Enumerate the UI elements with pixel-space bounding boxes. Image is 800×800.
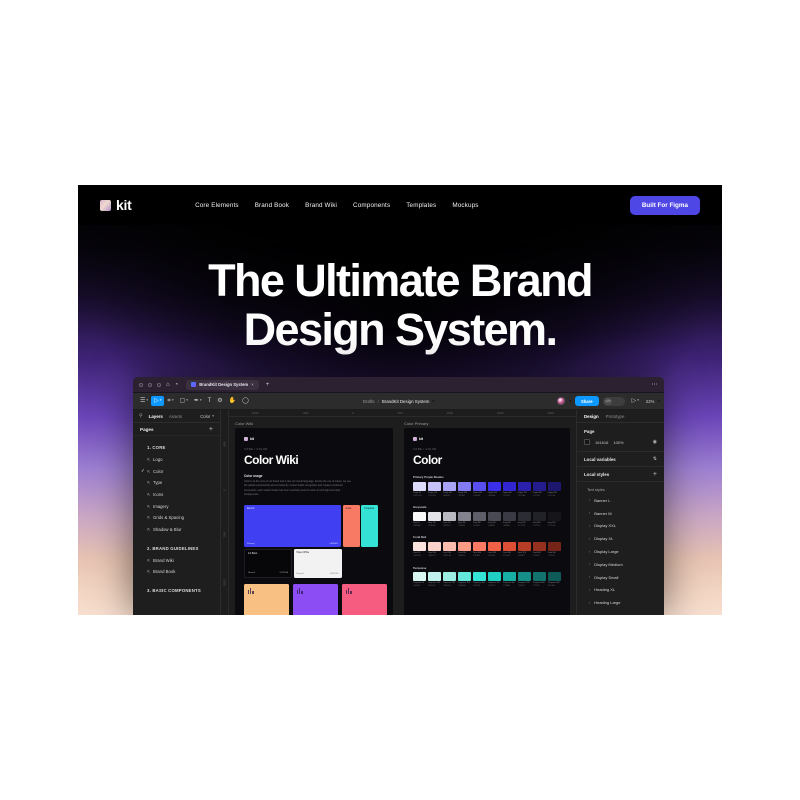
swatch-hex: #212128	[533, 525, 546, 528]
swatch[interactable]: Turquoise 500#1FD0C3	[488, 572, 501, 588]
swatch-hex: #F2F2F2	[330, 573, 339, 575]
color-swatch-grid: Electric #4040F2 Primary Coral Turquoise	[244, 505, 393, 615]
swatch[interactable]: Purple 800#241C8C	[533, 482, 546, 498]
list-item[interactable]: ⇱Brand Book	[133, 566, 220, 578]
page-section-title: Page	[584, 429, 657, 434]
swatch-hex: #BFF2EC	[428, 585, 441, 588]
page-background-swatch[interactable]	[584, 439, 590, 445]
breadcrumb-drafts[interactable]: Drafts	[363, 399, 375, 404]
swatch-chip[interactable]	[503, 482, 516, 491]
swatch-hex: #F06248	[488, 555, 501, 558]
swatch-chip[interactable]	[413, 512, 426, 521]
page-background-hex[interactable]: 161616	[595, 440, 608, 445]
frame-label[interactable]: Color Primary	[404, 421, 570, 426]
nav-link-components[interactable]: Components	[353, 202, 390, 209]
cursor-icon: ▷	[154, 398, 159, 404]
frame-color-wiki[interactable]: Color Wiki kit CORE / COLOR Color Wiki C…	[235, 421, 393, 615]
swatch[interactable]: Turquoise 900#0E5A56	[548, 572, 561, 588]
swatch-hex: #DC4E35	[503, 555, 516, 558]
text-style-item[interactable]: ›Display Large	[577, 545, 664, 558]
swatch-hex: #5E5E69	[473, 525, 486, 528]
text-icon: T	[208, 398, 212, 404]
ruler-tick: 1000	[446, 411, 453, 415]
pen-tool[interactable]: ✒ ▾	[191, 396, 205, 406]
swatch[interactable]: Turquoise 700#158F87	[518, 572, 531, 588]
chevron-right-icon[interactable]: ›	[589, 498, 590, 502]
swatch[interactable]: Grey 300#83838F	[458, 512, 471, 528]
ruler-tick: -500	[223, 441, 227, 447]
swatch-coral[interactable]: Coral	[343, 505, 360, 547]
hero-section: kit Core Elements Brand Book Brand Wiki …	[78, 185, 722, 615]
swatch[interactable]: Purple 400#584FEE	[473, 482, 486, 498]
brand-logo[interactable]: kit	[100, 197, 131, 213]
text-style-name: Display Large	[594, 549, 618, 554]
hand-icon: ✋	[229, 398, 236, 404]
swatch[interactable]: Grey 600#3A3A44	[503, 512, 516, 528]
swatch[interactable]: Grey 200#B9B9C2	[443, 512, 456, 528]
swatch[interactable]: Turquoise 400#35E3D6	[473, 572, 486, 588]
swatch-chip[interactable]	[518, 512, 531, 521]
swatch-rose[interactable]	[342, 584, 387, 616]
home-icon[interactable]: ⌂	[166, 382, 170, 388]
page-selector-label: Color	[200, 414, 210, 419]
swatch[interactable]: Purple 600#3226D0	[503, 482, 516, 498]
list-item[interactable]: ⇱Icons	[133, 489, 220, 501]
text-style-name: Heading XL	[594, 587, 615, 592]
swatch-hex: #3B30EA	[488, 495, 501, 498]
swatch-chip[interactable]	[428, 542, 441, 551]
text-styles-label: Text styles	[577, 482, 664, 494]
tab-prototype[interactable]: Prototype	[606, 414, 625, 419]
comment-icon: ◯	[242, 398, 249, 404]
hero-headline: The Ultimate Brand Design System.	[78, 257, 722, 354]
shape-tool[interactable]: ▢ ▾	[177, 396, 191, 406]
brand-name: kit	[116, 197, 131, 213]
window-maximize-dot[interactable]	[157, 383, 161, 387]
swatch-label-1: Neutral	[248, 572, 255, 574]
nav-link-brand-book[interactable]: Brand Book	[255, 202, 289, 209]
text-style-name: Banner M	[594, 511, 611, 516]
swatch-violet[interactable]	[293, 584, 338, 616]
swatch-chip[interactable]	[458, 512, 471, 521]
page-label: Grids & Spacing	[153, 515, 184, 520]
swatch-chip[interactable]	[518, 482, 531, 491]
pages-title: Pages	[140, 427, 154, 432]
swatch-chip[interactable]	[443, 512, 456, 521]
swatch-chip[interactable]	[443, 572, 456, 581]
chevron-right-icon[interactable]: ›	[589, 550, 590, 554]
list-spacer	[133, 536, 220, 543]
ruler-tick: 0	[223, 489, 227, 491]
swatch-row: Coral 50#FBE3DECoral 100#FAD2C9Coral 200…	[413, 542, 561, 558]
chevron-down-icon: ▾	[212, 414, 214, 418]
frame-icon: ⌗	[167, 398, 170, 404]
swatch-hex: #83838F	[458, 525, 471, 528]
chevron-right-icon[interactable]: ›	[589, 524, 590, 528]
swatch-hex: #12726C	[533, 585, 546, 588]
nav-link-brand-wiki[interactable]: Brand Wiki	[305, 202, 337, 209]
frame-content: kit CORE / COLOR Color Wiki Color usage …	[235, 428, 393, 615]
list-spacer	[133, 578, 220, 585]
chevron-right-icon[interactable]: ›	[589, 511, 590, 515]
ruler-tick: 1500	[497, 411, 504, 415]
dev-mode-toggle[interactable]: </>	[603, 397, 625, 406]
close-icon[interactable]: ×	[251, 382, 254, 387]
swatch-hex: #584FEE	[473, 495, 486, 498]
swatch-name: Turquoise	[364, 508, 374, 510]
swatch-chip[interactable]	[428, 482, 441, 491]
browser-menu-icon[interactable]: ⋯	[652, 381, 659, 388]
frame-color-primary[interactable]: Color Primary kit CORE / COLOR Color Pri…	[404, 421, 570, 615]
recents-icon[interactable]: ◔	[175, 382, 179, 388]
components-tool[interactable]: ⚙	[214, 396, 225, 406]
play-icon: ▷	[632, 398, 637, 404]
swatch-hex: #D8F6F2	[413, 585, 426, 588]
ruler-tick: 500	[223, 532, 227, 537]
frame-label[interactable]: Color Wiki	[235, 421, 393, 426]
ruler-tick: 500	[398, 411, 403, 415]
swatch-hex: #B9B9C2	[443, 525, 456, 528]
swatch-chip[interactable]	[503, 542, 516, 551]
code-icon: </>	[604, 398, 612, 405]
swatch-chip[interactable]	[458, 542, 471, 551]
add-style-icon[interactable]: +	[653, 471, 657, 478]
tab-design[interactable]: Design	[584, 414, 599, 419]
frame-title: Color	[413, 453, 561, 467]
frame-eyebrow: CORE / COLOR	[244, 448, 384, 451]
chevron-down-icon[interactable]: ▾	[658, 399, 660, 403]
swatch[interactable]: Coral 100#FAD2C9	[428, 542, 441, 558]
swatch[interactable]: Coral 700#B83D27	[518, 542, 531, 558]
swatch-hex: #9BEDE4	[443, 585, 456, 588]
swatch-hex: #FAD2C9	[428, 555, 441, 558]
frame-subtitle: Color usage	[244, 474, 384, 478]
swatch-chip[interactable]	[488, 482, 501, 491]
swatch[interactable]: Purple 100#C6C2F8	[428, 482, 441, 498]
swatch-hex: #2C2C34	[518, 525, 531, 528]
figma-app-window: ⌂ ◔ BrandKit Design System × + ⋯ ☰ ▾ ▷ ▾	[133, 377, 664, 615]
text-style-item[interactable]: ›Display XXL	[577, 520, 664, 533]
nav-link-templates[interactable]: Templates	[406, 202, 436, 209]
swatch[interactable]: Coral 50#FBE3DE	[413, 542, 426, 558]
design-panel-tabs: Design Prototype	[577, 410, 664, 423]
swatch-chip[interactable]	[548, 542, 561, 551]
page-label: Icons	[153, 492, 163, 497]
breadcrumb-separator: /	[378, 399, 379, 404]
local-variables-row[interactable]: Local variables ⇅	[577, 452, 664, 467]
text-style-name: Display XL	[594, 536, 613, 541]
swatch[interactable]: Coral 200#FBBCAD	[443, 542, 456, 558]
window-close-dot[interactable]	[139, 383, 143, 387]
local-styles-row[interactable]: Local styles +	[577, 467, 664, 482]
swatch[interactable]: Turquoise 200#9BEDE4	[443, 572, 456, 588]
swatch-hex: #B83D27	[518, 555, 531, 558]
swatch[interactable]: Purple 500#3B30EA	[488, 482, 501, 498]
page-label: Type	[153, 480, 162, 485]
swatch-hex: #A9A3F5	[443, 495, 456, 498]
chevron-down-icon[interactable]: ▾	[569, 399, 571, 403]
swatch-hex: #837BF2	[458, 495, 471, 498]
swatch-group-title: Primary Purple Shades	[413, 475, 561, 479]
site-header: kit Core Elements Brand Book Brand Wiki …	[78, 185, 722, 225]
list-item[interactable]: ⇱Logo	[133, 454, 220, 466]
swatch-chip[interactable]	[428, 512, 441, 521]
nav-link-core-elements[interactable]: Core Elements	[195, 202, 239, 209]
swatch-row: Ink Black #07070A Neutral Paper White #F…	[244, 549, 393, 578]
swatch-row: Electric #4040F2 Primary Coral Turquoise	[244, 505, 393, 547]
swatch-electric-blue[interactable]: Electric #4040F2 Primary	[244, 505, 341, 547]
chevron-right-icon[interactable]: ›	[589, 537, 590, 541]
swatch-bars-icon	[248, 588, 254, 594]
swatch[interactable]: Purple 200#A9A3F5	[443, 482, 456, 498]
list-item[interactable]: 2. BRAND GUIDELINES	[133, 543, 220, 555]
chevron-right-icon[interactable]: ›	[589, 588, 590, 592]
swatch-chip[interactable]	[443, 482, 456, 491]
move-tool[interactable]: ▷ ▾	[151, 396, 164, 406]
swatch-chip[interactable]	[548, 482, 561, 491]
swatch[interactable]: Grey 900#15151A	[548, 512, 561, 528]
ruler-tick: 0	[352, 411, 354, 415]
add-page-icon[interactable]: +	[209, 426, 213, 433]
text-style-item[interactable]: ›Heading Large	[577, 596, 664, 609]
swatch[interactable]: Grey 50#FAFAFA	[413, 512, 426, 528]
swatch-chip[interactable]	[413, 542, 426, 551]
frame-logo: kit	[244, 437, 384, 441]
page-label: 2. BRAND GUIDELINES	[147, 546, 199, 551]
rectangle-icon: ▢	[180, 398, 186, 404]
swatch-chip[interactable]	[473, 542, 486, 551]
main-menu-tool[interactable]: ☰ ▾	[137, 396, 151, 406]
pen-icon: ✒	[194, 398, 199, 404]
swatch[interactable]: Grey 800#212128	[533, 512, 546, 528]
chevron-down-icon: ▾	[200, 399, 202, 402]
text-style-item[interactable]: ›Display Small	[577, 571, 664, 584]
browser-tab[interactable]: BrandKit Design System ×	[186, 380, 259, 390]
swatch[interactable]: Coral 900#752518	[548, 542, 561, 558]
list-item[interactable]: ⇱Type	[133, 477, 220, 489]
swatch-chip[interactable]	[533, 482, 546, 491]
swatch-hex: #E4E4E8	[428, 525, 441, 528]
swatch-chip[interactable]	[488, 572, 501, 581]
swatch-chip[interactable]	[413, 482, 426, 491]
built-for-figma-button[interactable]: Built For Figma	[630, 196, 700, 215]
swatch-hex: #35E3D6	[473, 585, 486, 588]
variables-icon[interactable]: ⇅	[653, 456, 657, 462]
tab-layers[interactable]: Layers	[149, 414, 163, 419]
swatch-turquoise[interactable]: Turquoise	[361, 505, 378, 547]
swatch-hex: #93301F	[533, 555, 546, 558]
swatch[interactable]: Grey 100#E4E4E8	[428, 512, 441, 528]
logo-mark-icon	[413, 437, 417, 441]
swatch[interactable]: Turquoise 800#12726C	[533, 572, 546, 588]
page-label: Shadow & Blur	[153, 527, 181, 532]
swatch[interactable]: Turquoise 600#17AFA4	[503, 572, 516, 588]
search-icon[interactable]: ⚲	[139, 413, 143, 419]
text-style-item[interactable]: ›Banner L	[577, 494, 664, 507]
list-item[interactable]: ⇱Shadow & Blur	[133, 524, 220, 536]
chevron-down-icon: ▾	[146, 399, 148, 402]
swatch-label-1: Neutral	[297, 573, 304, 575]
swatch[interactable]: Turquoise 300#64E8DB	[458, 572, 471, 588]
toolbar-right-group: ▾ Share </> ▷ ▾ 22% ▾	[557, 396, 660, 406]
page-background-opacity[interactable]: 100%	[613, 440, 623, 445]
ruler-tick: -1000	[251, 411, 259, 415]
figma-workspace: ⚲ Layers Assets Color ▾ Pages + 1. CORE	[133, 410, 664, 615]
text-style-name: Banner L	[594, 498, 610, 503]
swatch-name: Ink Black	[248, 553, 257, 555]
swatch[interactable]: Grey 700#2C2C34	[518, 512, 531, 528]
swatch-group: Primary Purple ShadesPurple 50#DEDCFBPur…	[413, 475, 561, 497]
figma-toolbar: ☰ ▾ ▷ ▾ ⌗ ▾ ▢ ▾ ✒ ▾	[133, 393, 664, 410]
swatch-groups: Primary Purple ShadesPurple 50#DEDCFBPur…	[413, 475, 561, 588]
text-tool[interactable]: T	[205, 396, 215, 406]
window-minimize-dot[interactable]	[148, 383, 152, 387]
swatch-chip[interactable]	[458, 572, 471, 581]
page-section: Page 161616 100% ◉	[577, 423, 664, 452]
horizontal-ruler: -1000 -500 0 500 1000 1500 2000	[229, 410, 576, 417]
swatch-group-title: Greyscale	[413, 505, 561, 509]
frame-logo-text: kit	[419, 437, 423, 441]
pages-list: 1. CORE ⇱Logo ✓⇱Color ⇱Type ⇱Icons ⇱Imag…	[133, 436, 220, 596]
frame-logo-text: kit	[250, 437, 254, 441]
list-item[interactable]: 1. CORE	[133, 442, 220, 454]
new-tab-icon[interactable]: +	[266, 382, 270, 388]
avatar[interactable]	[557, 397, 565, 405]
list-item[interactable]: ⇱Grids & Spacing	[133, 512, 220, 524]
list-item[interactable]: ✓⇱Color	[133, 465, 220, 477]
landing-page: kit Core Elements Brand Book Brand Wiki …	[0, 0, 800, 800]
swatch-hex: #3A3A44	[503, 525, 516, 528]
swatch-chip[interactable]	[503, 512, 516, 521]
list-item[interactable]: ⇱Brand Wiki	[133, 554, 220, 566]
swatch[interactable]: Purple 900#1D176E	[548, 482, 561, 498]
swatch-row: Grey 50#FAFAFAGrey 100#E4E4E8Grey 200#B9…	[413, 512, 561, 528]
swatch-hex: #07070A	[279, 572, 288, 574]
swatch-hex: #3226D0	[503, 495, 516, 498]
comment-tool[interactable]: ◯	[239, 396, 252, 406]
page-label: Brand Book	[153, 569, 175, 574]
chevron-down-icon: ▾	[172, 399, 174, 402]
swatch-chip[interactable]	[533, 512, 546, 521]
swatch-hex: #2B21AE	[518, 495, 531, 498]
swatch-hex: #64E8DB	[458, 585, 471, 588]
text-style-item[interactable]: ›Display Medium	[577, 558, 664, 571]
swatch-chip[interactable]	[503, 572, 516, 581]
swatch-hex: #DEDCFB	[413, 495, 426, 498]
text-style-item[interactable]: ›Heading XL	[577, 584, 664, 597]
pages-header: Pages +	[133, 423, 220, 436]
components-icon: ⚙	[217, 398, 222, 404]
browser-tab-title: BrandKit Design System	[199, 382, 248, 387]
present-button[interactable]: ▷ ▾	[629, 396, 642, 406]
swatch[interactable]: Grey 400#5E5E69	[473, 512, 486, 528]
page-label: Color	[153, 469, 163, 474]
swatch[interactable]: Purple 50#DEDCFB	[413, 482, 426, 498]
swatch[interactable]: Coral 800#93301F	[533, 542, 546, 558]
swatch-chip[interactable]	[548, 512, 561, 521]
vertical-ruler: -500 0 500 1000	[221, 410, 229, 615]
chevron-down-icon[interactable]: ▾	[432, 399, 434, 403]
logo-mark-icon	[244, 437, 248, 441]
swatch-chip[interactable]	[518, 542, 531, 551]
swatch[interactable]: Coral 300#FA9B86	[458, 542, 471, 558]
text-style-item[interactable]: ›Display XL	[577, 532, 664, 545]
swatch-ink-black[interactable]: Ink Black #07070A Neutral	[244, 549, 292, 578]
swatch-chip[interactable]	[473, 512, 486, 521]
frame-content: kit CORE / COLOR Color Primary Purple Sh…	[404, 428, 570, 615]
swatch-chip[interactable]	[428, 572, 441, 581]
swatch-hex: #241C8C	[533, 495, 546, 498]
page-label: Imagery	[153, 504, 169, 509]
share-button[interactable]: Share	[575, 396, 599, 406]
text-style-name: Display Medium	[594, 562, 622, 567]
list-item[interactable]: 3. BASIC COMPONENTS	[133, 585, 220, 597]
swatch[interactable]: Coral 500#F06248	[488, 542, 501, 558]
swatch-chip[interactable]	[443, 542, 456, 551]
swatch-apricot[interactable]	[244, 584, 289, 616]
swatch-bars-icon	[346, 588, 352, 594]
visibility-eye-icon[interactable]: ◉	[653, 439, 657, 445]
figma-favicon-icon	[191, 382, 196, 387]
chevron-right-icon[interactable]: ›	[589, 601, 590, 605]
tab-assets[interactable]: Assets	[169, 414, 182, 419]
zoom-level-value[interactable]: 22%	[646, 399, 654, 404]
swatch-chip[interactable]	[518, 572, 531, 581]
swatch-paper-white[interactable]: Paper White #F2F2F2 Neutral	[294, 549, 342, 578]
page-selector[interactable]: Color ▾	[200, 414, 214, 419]
headline-line-1: The Ultimate Brand	[208, 255, 592, 306]
swatch[interactable]: Turquoise 100#BFF2EC	[428, 572, 441, 588]
swatch[interactable]: Purple 300#837BF2	[458, 482, 471, 498]
swatch-chip[interactable]	[533, 572, 546, 581]
frame-tool[interactable]: ⌗ ▾	[164, 396, 176, 406]
browser-tab-bar: ⌂ ◔ BrandKit Design System × + ⋯	[133, 377, 664, 393]
chevron-down-icon: ▾	[160, 399, 162, 402]
swatch-chip[interactable]	[458, 482, 471, 491]
page-label: Logo	[153, 457, 163, 462]
swatch-hex: #17AFA4	[503, 585, 516, 588]
swatch-chip[interactable]	[488, 512, 501, 521]
figma-canvas[interactable]: -1000 -500 0 500 1000 1500 2000 -500 0 5…	[221, 410, 576, 615]
headline-line-2: Design System.	[78, 306, 722, 355]
swatch[interactable]: Grey 500#4A4A55	[488, 512, 501, 528]
primary-nav: Core Elements Brand Book Brand Wiki Comp…	[195, 202, 478, 209]
breadcrumb-file-name[interactable]: BrandKit Design System	[382, 399, 430, 404]
text-style-item[interactable]: ›Banner M	[577, 507, 664, 520]
swatch-chip[interactable]	[413, 572, 426, 581]
swatch-chip[interactable]	[473, 482, 486, 491]
swatch-chip[interactable]	[548, 572, 561, 581]
swatch[interactable]: Coral 600#DC4E35	[503, 542, 516, 558]
list-item[interactable]: ⇱Imagery	[133, 500, 220, 512]
swatch-hex: #4040F2	[329, 543, 338, 545]
nav-link-mockups[interactable]: Mockups	[452, 202, 478, 209]
swatch[interactable]: Turquoise 50#D8F6F2	[413, 572, 426, 588]
swatch-hex: #15151A	[548, 525, 561, 528]
chevron-right-icon[interactable]: ›	[589, 562, 590, 566]
swatch[interactable]: Coral 400#F87A64	[473, 542, 486, 558]
swatch-chip[interactable]	[533, 542, 546, 551]
swatch-chip[interactable]	[473, 572, 486, 581]
swatch[interactable]: Purple 700#2B21AE	[518, 482, 531, 498]
swatch-hex: #1FD0C3	[488, 585, 501, 588]
page-label: 3. BASIC COMPONENTS	[147, 588, 201, 593]
swatch-row: Turquoise 50#D8F6F2Turquoise 100#BFF2ECT…	[413, 572, 561, 588]
swatch-chip[interactable]	[488, 542, 501, 551]
chevron-right-icon[interactable]: ›	[589, 575, 590, 579]
swatch-hex: #F87A64	[473, 555, 486, 558]
hand-tool[interactable]: ✋	[226, 396, 239, 406]
